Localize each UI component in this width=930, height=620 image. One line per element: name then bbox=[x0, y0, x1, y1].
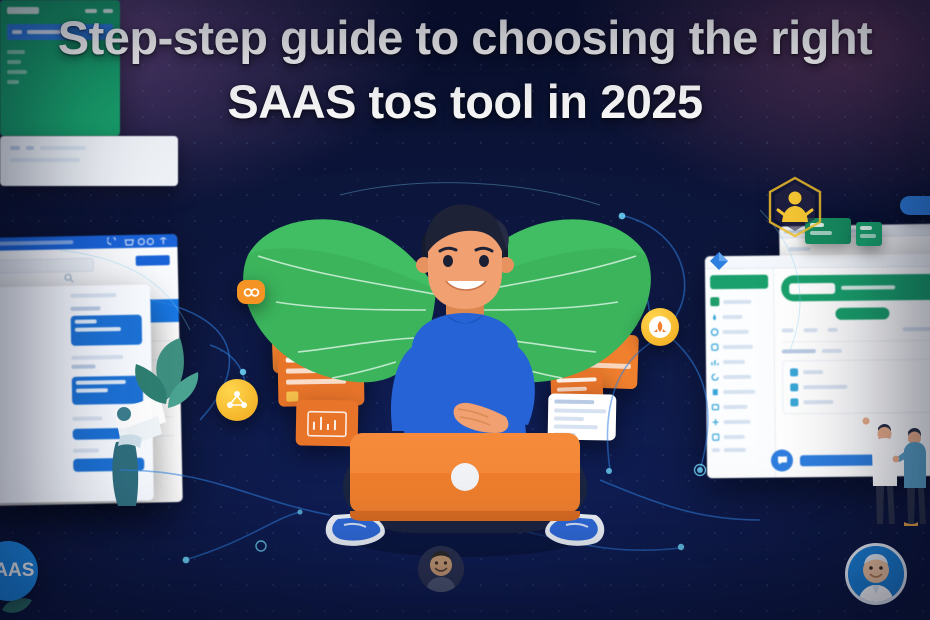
right-bottom-bar[interactable] bbox=[0, 136, 178, 186]
sidebar-item[interactable] bbox=[711, 343, 769, 352]
avatar-bottom-right[interactable] bbox=[845, 543, 907, 605]
right-window-sidebar[interactable] bbox=[705, 269, 776, 479]
headline-line-2: SAAS tos tool in 2025 bbox=[0, 78, 930, 126]
top-right-pill-button[interactable] bbox=[900, 196, 930, 215]
rocket-icon bbox=[653, 320, 667, 335]
orange-square-badge[interactable] bbox=[237, 280, 265, 304]
left-window-toolbar-icons[interactable] bbox=[107, 236, 171, 247]
sidebar-item[interactable] bbox=[712, 418, 770, 427]
headline-line-1: Step-step guide to choosing the right bbox=[0, 14, 930, 62]
diamond-icon bbox=[708, 250, 730, 272]
sidebar-item[interactable] bbox=[711, 358, 769, 367]
chat-bubble-button[interactable] bbox=[771, 449, 793, 471]
avatar-face bbox=[418, 546, 464, 592]
presenter-left bbox=[862, 417, 897, 524]
sidebar-item[interactable] bbox=[711, 403, 769, 412]
presenter-figures bbox=[860, 400, 930, 528]
avatar-face bbox=[848, 546, 904, 602]
chat-icon bbox=[776, 455, 787, 465]
gold-badge-right[interactable] bbox=[641, 308, 679, 346]
avatar-bottom-center[interactable] bbox=[418, 546, 464, 592]
poster-canvas: Step-step guide to choosing the right SA… bbox=[0, 0, 930, 620]
left-window-action-button[interactable] bbox=[136, 255, 170, 266]
sidebar-item[interactable] bbox=[711, 373, 769, 382]
search-input[interactable] bbox=[0, 258, 94, 275]
sidebar-item[interactable] bbox=[710, 313, 768, 322]
page-title: Step-step guide to choosing the right SA… bbox=[0, 14, 930, 126]
link-icon bbox=[243, 286, 260, 299]
hexagon-badge-top-right[interactable] bbox=[766, 176, 824, 238]
sidebar-item[interactable] bbox=[711, 328, 769, 337]
sidebar-item[interactable] bbox=[712, 433, 770, 442]
network-nodes-icon bbox=[226, 390, 248, 410]
laptop bbox=[350, 433, 580, 521]
sidebar-item[interactable] bbox=[711, 388, 769, 397]
person-with-laptop bbox=[300, 185, 630, 560]
green-pill-button[interactable] bbox=[835, 307, 889, 320]
saas-logo-text: SAAS bbox=[0, 560, 34, 582]
search-banner[interactable] bbox=[781, 274, 930, 302]
green-mini-card-2 bbox=[856, 222, 882, 246]
left-plant-illustration bbox=[126, 330, 202, 460]
presenter-right bbox=[893, 428, 926, 526]
gold-badge-left[interactable] bbox=[216, 379, 258, 421]
search-icon bbox=[64, 273, 76, 283]
